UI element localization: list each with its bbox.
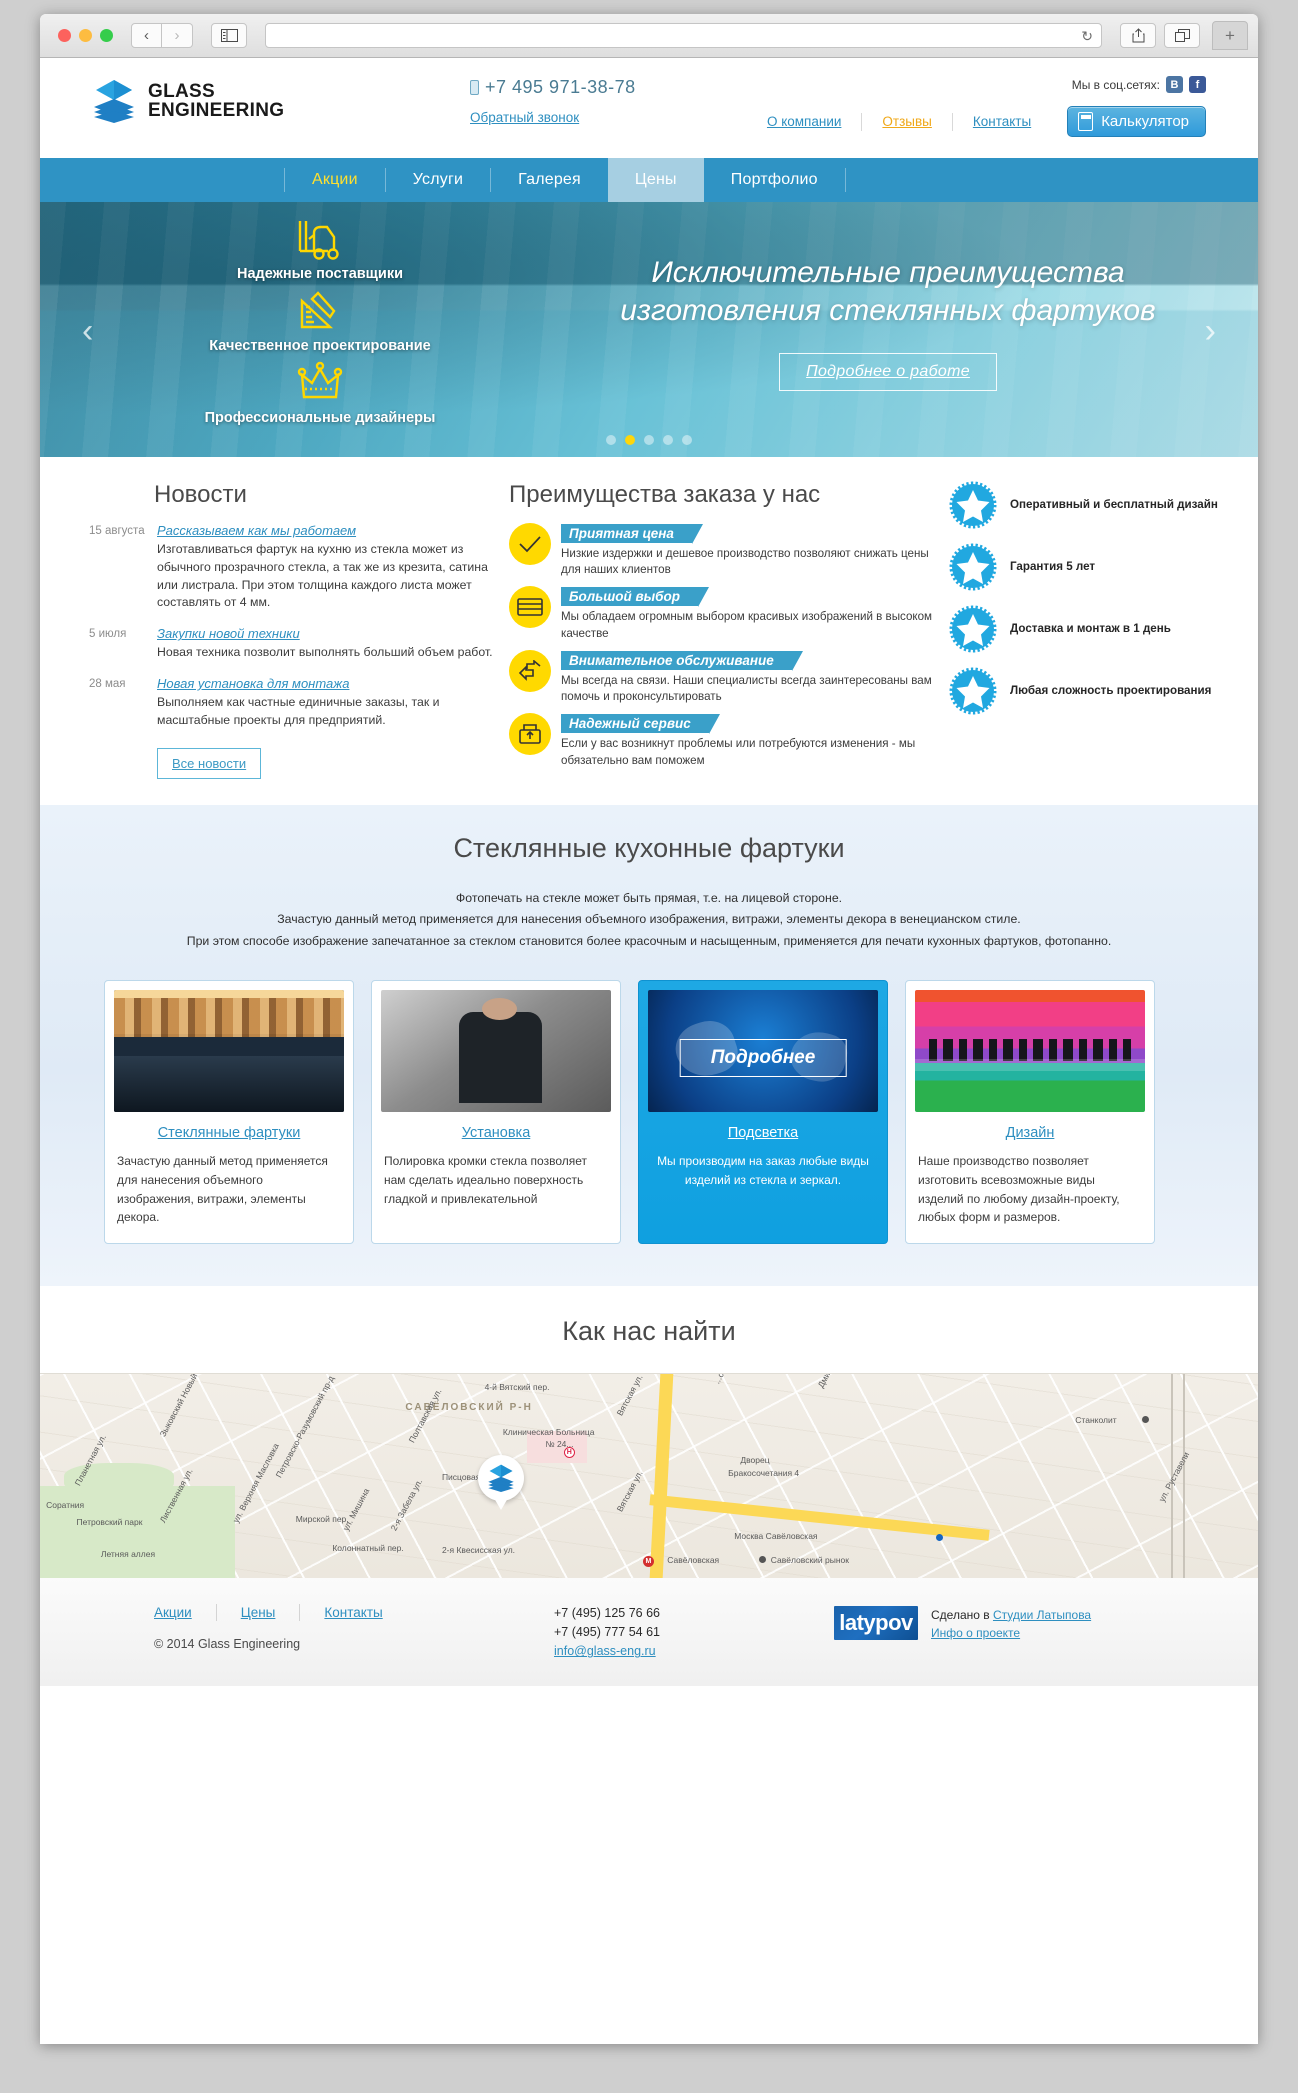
map-label: Дворец	[740, 1455, 769, 1465]
nav-item-akcii[interactable]: Акции	[285, 158, 385, 202]
hero-title-line-1: Исключительные преимущества	[578, 254, 1198, 292]
calculator-icon	[1078, 112, 1093, 131]
hero-feature: Профессиональные дизайнеры	[155, 358, 485, 426]
header-link-about[interactable]: О компании	[747, 114, 861, 129]
advantages-title: Преимущества заказа у нас	[509, 481, 939, 509]
hero-slider: ‹ › Надежные поставщики	[40, 202, 1258, 457]
star-text: Оперативный и бесплатный дизайн	[1010, 497, 1218, 512]
stars-column: Оперативный и бесплатный дизайн Гарантия…	[939, 481, 1229, 779]
check-icon	[509, 523, 551, 565]
poi-dot	[1142, 1416, 1149, 1423]
minimize-window-icon[interactable]	[79, 29, 92, 42]
aprons-paragraph: При этом способе изображение запечатанно…	[40, 931, 1258, 953]
hero-feature: Качественное проектирование	[155, 286, 485, 354]
star-item: Любая сложность проектирования	[949, 667, 1229, 715]
advantage-item: Приятная цена Низкие издержки и дешевое …	[509, 523, 939, 578]
vk-icon[interactable]: B	[1166, 76, 1183, 93]
news-headline[interactable]: Рассказываем как мы работаем	[157, 523, 509, 538]
advantage-desc: Низкие издержки и дешевое производство п…	[561, 546, 939, 578]
project-info-link[interactable]: Инфо о проекте	[931, 1626, 1020, 1640]
news-title: Новости	[89, 481, 509, 509]
slider-dot[interactable]	[663, 435, 673, 445]
glass-engineering-logo-icon	[92, 78, 136, 124]
advantage-tag: Приятная цена	[561, 524, 692, 543]
footer-studio: latypov Сделано в Студии Латыпова Инфо о…	[834, 1604, 1091, 1662]
hero-feature-label: Надежные поставщики	[155, 266, 485, 282]
advantage-tag: Большой выбор	[561, 587, 698, 606]
browser-window: ‹ › ↻ +	[40, 14, 1258, 2044]
copyright: © 2014 Glass Engineering	[154, 1637, 554, 1651]
card-link[interactable]: Подсветка	[648, 1125, 878, 1141]
product-card[interactable]: Установка Полировка кромки стекла позвол…	[371, 980, 621, 1243]
news-item: 5 июля Закупки новой техники Новая техни…	[89, 626, 509, 662]
studio-prefix: Сделано в	[931, 1608, 993, 1622]
slider-dot[interactable]	[606, 435, 616, 445]
forklift-icon	[155, 214, 485, 264]
map-label: 4-й Вятский пер.	[485, 1382, 550, 1392]
star-badge-icon	[949, 605, 997, 653]
calculator-button[interactable]: Калькулятор	[1067, 106, 1206, 137]
aprons-section: Стеклянные кухонные фартуки Фотопечать н…	[40, 805, 1258, 1286]
forward-icon[interactable]: ›	[162, 23, 193, 48]
map-label: Станколит	[1075, 1415, 1116, 1425]
star-item: Доставка и монтаж в 1 день	[949, 605, 1229, 653]
hero-feature-label: Профессиональные дизайнеры	[155, 410, 485, 426]
map-label: № 24...	[545, 1439, 573, 1449]
aprons-paragraph: Зачастую данный метод применяется для на…	[40, 909, 1258, 931]
close-window-icon[interactable]	[58, 29, 71, 42]
printer-icon	[509, 713, 551, 755]
nav-item-ceny[interactable]: Цены	[608, 158, 704, 202]
logo-line-1: GLASS	[148, 82, 284, 101]
star-text: Любая сложность проектирования	[1010, 683, 1211, 698]
map-label: Летняя аллея	[101, 1549, 155, 1559]
logo-text: GLASS ENGINEERING	[148, 82, 284, 120]
news-date: 28 мая	[89, 676, 157, 730]
card-icon	[509, 586, 551, 628]
hero-prev-arrow[interactable]: ‹	[82, 312, 93, 351]
news-column: Новости 15 августа Рассказываем как мы р…	[89, 481, 509, 779]
news-item: 15 августа Рассказываем как мы работаем …	[89, 523, 509, 612]
address-bar[interactable]: ↻	[265, 23, 1102, 48]
advantage-item: Надежный сервис Если у вас возникнут про…	[509, 713, 939, 768]
site-footer: Акции Цены Контакты © 2014 Glass Enginee…	[40, 1578, 1258, 1686]
footer-link-ceny[interactable]: Цены	[241, 1605, 300, 1620]
header-phone-number: +7 495 971-38-78	[485, 77, 636, 97]
reload-icon[interactable]: ↻	[1081, 27, 1093, 45]
card-text: Полировка кромки стекла позволяет нам сд…	[381, 1152, 611, 1208]
slider-dot[interactable]	[682, 435, 692, 445]
studio-logo[interactable]: latypov	[834, 1606, 918, 1640]
card-image	[381, 990, 611, 1112]
window-controls[interactable]	[58, 29, 113, 42]
footer-link-akcii[interactable]: Акции	[154, 1605, 216, 1620]
news-text: Изготавливаться фартук на кухню из стекл…	[157, 541, 509, 612]
site-logo[interactable]: GLASS ENGINEERING	[92, 78, 284, 124]
aprons-intro: Фотопечать на стекле может быть прямая, …	[40, 888, 1258, 953]
star-item: Оперативный и бесплатный дизайн	[949, 481, 1229, 529]
map-label: Соратния	[46, 1500, 84, 1510]
slider-dot[interactable]	[644, 435, 654, 445]
aprons-title: Стеклянные кухонные фартуки	[40, 833, 1258, 864]
calculator-label: Калькулятор	[1101, 113, 1189, 130]
slider-dot-active[interactable]	[625, 435, 635, 445]
advantage-item: Внимательное обслуживание Мы всегда на с…	[509, 650, 939, 705]
location-map[interactable]: H M Зыковский Новый пр-дПланетная ул.Пет…	[40, 1373, 1258, 1578]
card-more-button[interactable]: Подробнее	[680, 1039, 847, 1077]
divider	[845, 168, 846, 192]
card-text: Зачастую данный метод применяется для на…	[114, 1152, 344, 1226]
footer-links: Акции Цены Контакты	[154, 1604, 554, 1621]
card-link[interactable]: Стеклянные фартуки	[114, 1125, 344, 1141]
callback-link[interactable]: Обратный звонок	[470, 110, 579, 125]
map-label: Савёловская	[667, 1555, 719, 1565]
advantage-desc: Если у вас возникнут проблемы или потреб…	[561, 736, 939, 768]
news-headline[interactable]: Новая установка для монтажа	[157, 676, 509, 691]
star-badge-icon	[949, 543, 997, 591]
hero-feature-label: Качественное проектирование	[155, 338, 485, 354]
studio-credit: Сделано в Студии Латыпова Инфо о проекте	[931, 1606, 1091, 1643]
news-date: 5 июля	[89, 626, 157, 662]
tabs-icon[interactable]	[1164, 23, 1200, 48]
card-text: Мы производим на заказ любые виды издели…	[648, 1152, 878, 1189]
star-item: Гарантия 5 лет	[949, 543, 1229, 591]
hero-cta-button[interactable]: Подробнее о работе	[779, 353, 997, 391]
header-nav: О компании Отзывы Контакты Калькулятор	[747, 106, 1206, 137]
news-text: Новая техника позволит выполнять больший…	[157, 644, 509, 662]
footer-link-kontakty[interactable]: Контакты	[324, 1605, 406, 1620]
advantage-desc: Мы обладаем огромным выбором красивых из…	[561, 609, 939, 641]
advantage-item: Большой выбор Мы обладаем огромным выбор…	[509, 586, 939, 641]
hero-next-arrow[interactable]: ›	[1205, 312, 1216, 351]
hero-features: Надежные поставщики Качественное проекти…	[155, 214, 485, 430]
star-text: Гарантия 5 лет	[1010, 559, 1095, 574]
map-label: Бракосочетания 4	[728, 1468, 799, 1478]
web-page: GLASS ENGINEERING +7 495 971-38-78 Обрат…	[40, 58, 1258, 1686]
map-label: Колоннатный пер.	[332, 1543, 403, 1553]
map-label: Москва Савёловская	[734, 1531, 817, 1541]
map-label: Петровский парк	[77, 1517, 143, 1527]
back-icon[interactable]: ‹	[131, 23, 162, 48]
hero-content: Исключительные преимущества изготовления…	[578, 254, 1198, 391]
find-us-section: Как нас найти	[40, 1286, 1258, 1373]
sidebar-icon[interactable]	[211, 23, 247, 48]
footer-links-column: Акции Цены Контакты © 2014 Glass Enginee…	[154, 1604, 554, 1662]
phone-icon	[470, 80, 479, 95]
browser-toolbar: ‹ › ↻ +	[40, 14, 1258, 58]
news-date: 15 августа	[89, 523, 157, 612]
map-railway	[1183, 1374, 1185, 1578]
social-label: Мы в соц.сетях:	[1072, 78, 1160, 92]
studio-link[interactable]: Студии Латыпова	[993, 1608, 1091, 1622]
find-us-title: Как нас найти	[40, 1316, 1258, 1347]
social-block: Мы в соц.сетях: B f	[1072, 76, 1206, 93]
map-label: Савёловский рынок	[771, 1555, 849, 1565]
news-advantages-section: Новости 15 августа Рассказываем как мы р…	[40, 457, 1258, 805]
card-link[interactable]: Установка	[381, 1125, 611, 1141]
advantages-column: Преимущества заказа у нас Приятная цена …	[509, 481, 939, 779]
arrows-icon	[509, 650, 551, 692]
advantage-tag: Надежный сервис	[561, 714, 709, 733]
news-item: 28 мая Новая установка для монтажа Выпол…	[89, 676, 509, 730]
site-header: GLASS ENGINEERING +7 495 971-38-78 Обрат…	[40, 58, 1258, 158]
star-badge-icon	[949, 481, 997, 529]
map-label: Клиническая Больница	[503, 1427, 595, 1437]
footer-phone-1: +7 (495) 125 76 66	[554, 1604, 834, 1623]
header-phone: +7 495 971-38-78	[470, 77, 636, 98]
product-card[interactable]: Стеклянные фартуки Зачастую данный метод…	[104, 980, 354, 1243]
logo-line-2: ENGINEERING	[148, 101, 284, 120]
footer-email[interactable]: info@glass-eng.ru	[554, 1644, 656, 1658]
nav-item-uslugi[interactable]: Услуги	[386, 158, 490, 202]
card-link[interactable]: Дизайн	[915, 1125, 1145, 1141]
header-link-contacts[interactable]: Контакты	[953, 114, 1051, 129]
advantage-tag: Внимательное обслуживание	[561, 651, 792, 670]
header-link-reviews[interactable]: Отзывы	[862, 114, 951, 129]
divider	[299, 1604, 300, 1621]
hero-feature: Надежные поставщики	[155, 214, 485, 282]
hero-slider-dots[interactable]	[40, 435, 1258, 445]
nav-buttons[interactable]: ‹ ›	[131, 23, 193, 48]
ruler-pencil-icon	[155, 286, 485, 336]
aprons-paragraph: Фотопечать на стекле может быть прямая, …	[40, 888, 1258, 910]
map-label: Мирской пер.	[296, 1514, 349, 1524]
footer-contacts: +7 (495) 125 76 66 +7 (495) 777 54 61 in…	[554, 1604, 834, 1662]
product-card[interactable]: Дизайн Наше производство позволяет изгот…	[905, 980, 1155, 1243]
product-cards: Стеклянные фартуки Зачастую данный метод…	[104, 980, 1194, 1243]
maximize-window-icon[interactable]	[100, 29, 113, 42]
facebook-icon[interactable]: f	[1189, 76, 1206, 93]
divider	[216, 1604, 217, 1621]
market-dot	[759, 1556, 766, 1563]
crown-icon	[155, 358, 485, 408]
card-image	[114, 990, 344, 1112]
toolbar-right-buttons: +	[1120, 21, 1248, 50]
product-card-highlighted[interactable]: Подробнее Подсветка Мы производим на зак…	[638, 980, 888, 1243]
advantage-desc: Мы всегда на связи. Наши специалисты все…	[561, 673, 939, 705]
card-image	[915, 990, 1145, 1112]
hero-title-line-2: изготовления стеклянных фартуков	[578, 292, 1198, 330]
share-icon[interactable]	[1120, 23, 1156, 48]
new-tab-icon[interactable]: +	[1212, 21, 1248, 50]
star-badge-icon	[949, 667, 997, 715]
news-headline[interactable]: Закупки новой техники	[157, 626, 509, 641]
map-label: 2-я Квесисская ул.	[442, 1545, 515, 1555]
all-news-button[interactable]: Все новости	[157, 748, 261, 779]
nav-item-galereya[interactable]: Галерея	[491, 158, 608, 202]
news-text: Выполняем как частные единичные заказы, …	[157, 694, 509, 730]
footer-phone-2: +7 (495) 777 54 61	[554, 1623, 834, 1642]
card-text: Наше производство позволяет изготовить в…	[915, 1152, 1145, 1226]
main-navigation: Акции Услуги Галерея Цены Портфолио	[40, 158, 1258, 202]
nav-item-portfolio[interactable]: Портфолио	[704, 158, 845, 202]
desktop-background: ‹ › ↻ +	[0, 0, 1298, 2093]
star-text: Доставка и монтаж в 1 день	[1010, 621, 1171, 636]
